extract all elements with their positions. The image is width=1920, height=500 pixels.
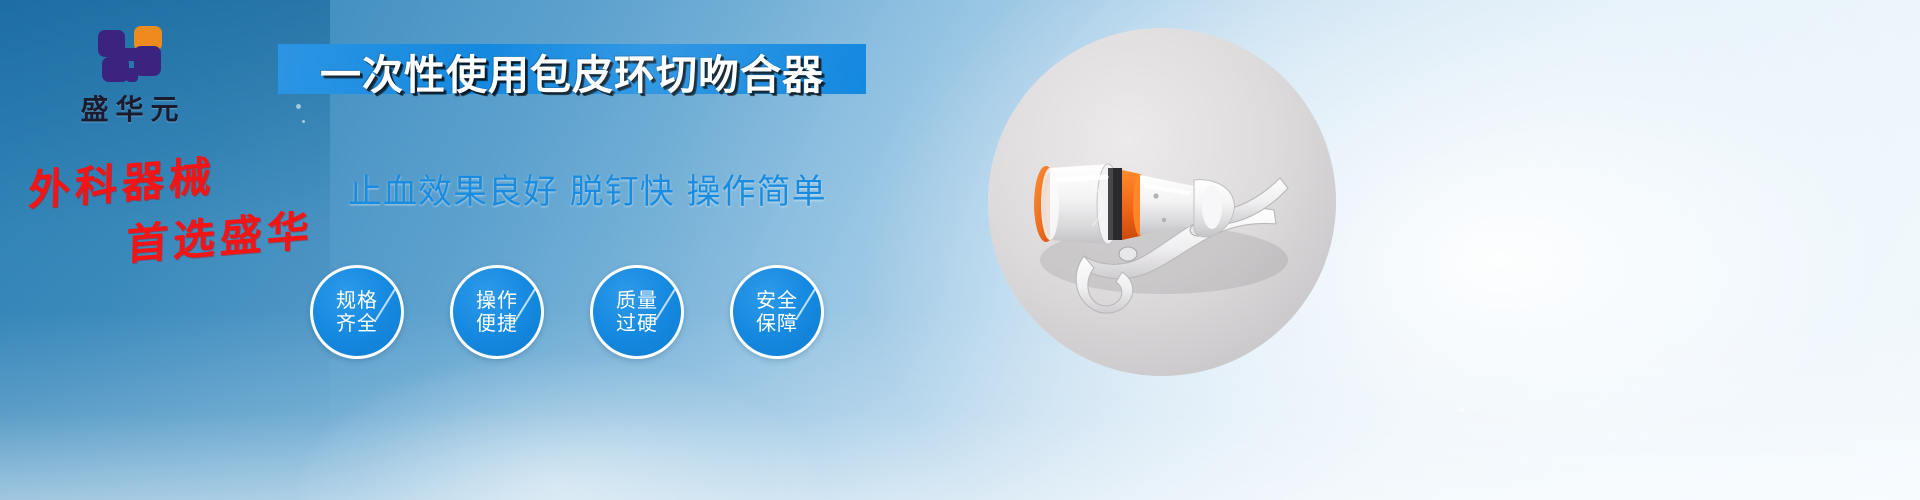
feature-badge-line-2: 保障 — [756, 312, 798, 335]
subtitle: 止血效果良好 脱钉快 操作简单 — [348, 168, 868, 208]
background-speck — [302, 120, 305, 123]
feature-badge-line-2: 便捷 — [476, 312, 518, 335]
brand-wordmark: 盛华元 — [58, 88, 208, 128]
feature-badge-line-1: 质量 — [616, 289, 658, 312]
feature-badge[interactable]: 规格 齐全 — [310, 265, 404, 359]
feature-badge-line-1: 安全 — [756, 289, 798, 312]
slash-accent-icon — [375, 284, 399, 321]
feature-badge[interactable]: 安全 保障 — [730, 265, 824, 359]
slash-accent-icon — [795, 284, 819, 321]
calligraphy-slogan: 外科器械 首选盛华 — [16, 148, 356, 266]
feature-badge-line-2: 齐全 — [336, 312, 378, 335]
shenghuayuan-blocks-logo-icon — [96, 24, 168, 86]
feature-badge-line-1: 操作 — [476, 289, 518, 312]
background-speck — [1460, 408, 1464, 412]
title-band: 一次性使用包皮环切吻合器 — [278, 44, 866, 94]
feature-badges: 规格 齐全 操作 便捷 质量 过硬 安全 保障 — [310, 265, 870, 365]
feature-badge[interactable]: 质量 过硬 — [590, 265, 684, 359]
promo-banner: 盛华元 外科器械 首选盛华 一次性使用包皮环切吻合器 止血效果良好 脱钉快 操作… — [0, 0, 1920, 500]
circumcision-stapler-photo-icon — [988, 28, 1336, 376]
slash-accent-icon — [655, 284, 679, 321]
subtitle-text: 止血效果良好 脱钉快 操作简单 — [348, 164, 827, 213]
brand-logo[interactable]: 盛华元 — [58, 24, 208, 128]
feature-badge-line-1: 规格 — [336, 289, 378, 312]
background-bottom-glow — [0, 310, 1920, 500]
background-speck — [296, 104, 301, 109]
feature-badge[interactable]: 操作 便捷 — [450, 265, 544, 359]
slash-accent-icon — [515, 284, 539, 321]
page-title: 一次性使用包皮环切吻合器 — [320, 41, 824, 101]
feature-badge-line-2: 过硬 — [616, 312, 658, 335]
